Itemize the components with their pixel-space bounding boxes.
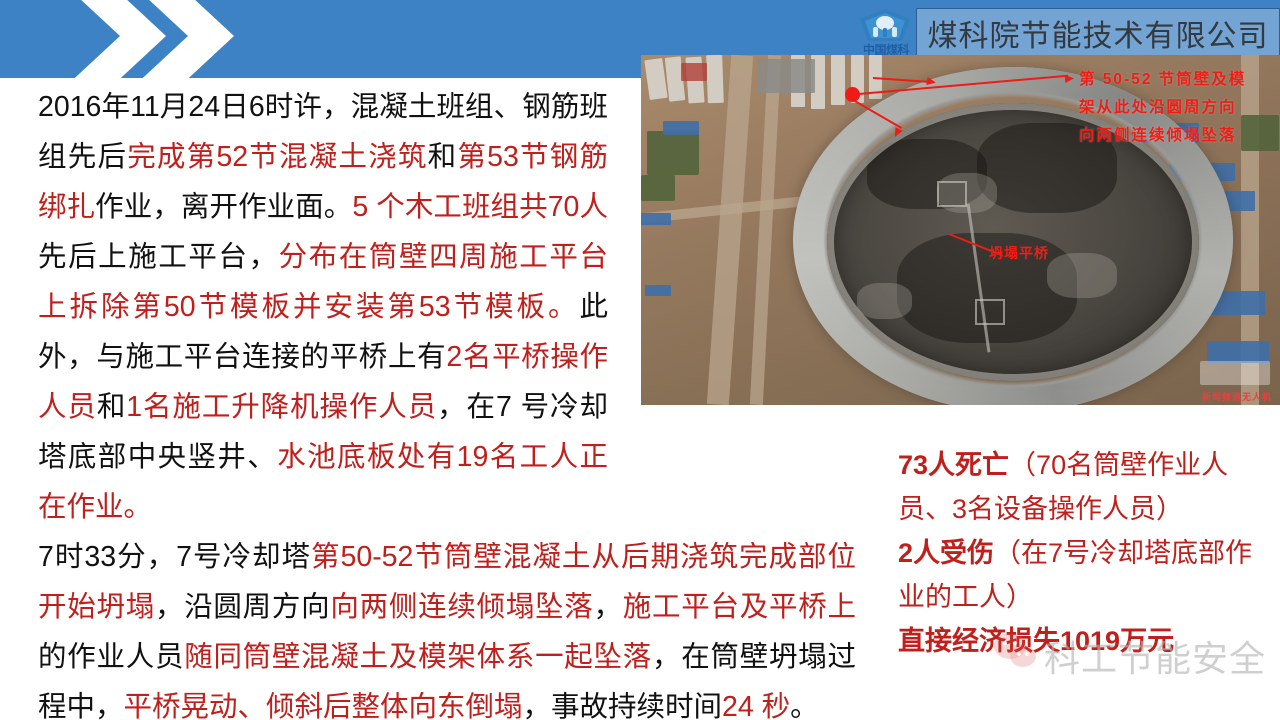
tv-watermark: 新闻频道无人机 [1156, 361, 1276, 403]
casualty-line: 员、3名设备操作人员） [898, 487, 1270, 531]
paragraph-1: 2016年11月24日6时许，混凝土班组、钢筋班组先后完成第52节混凝土浇筑和第… [38, 82, 608, 532]
text-run-2: ，沿圆周方向 [155, 591, 330, 623]
paragraph-2: 7时33分，7号冷却塔第50-52节筒壁混凝土从后期浇筑完成部位开始坍塌，沿圆周… [38, 532, 856, 720]
casualty-run-2-0: 2人受伤 [898, 538, 994, 568]
photo-detail [1207, 341, 1269, 363]
company-name-box: 煤科院节能技术有限公司 [916, 8, 1280, 57]
text-run-5: 施工平台及平桥上 [623, 591, 856, 623]
text-run-11: 24 秒 [722, 691, 790, 720]
text-run-10: ，事故持续时间 [523, 691, 723, 720]
text-run-12: 。 [790, 691, 819, 720]
annotation-arrow-head [926, 77, 936, 86]
casualty-run-0-1: （70名筒壁作业人 [1009, 450, 1228, 480]
annotation-bridge: 坍塌平桥 [989, 243, 1049, 263]
coal-science-shield-icon [858, 8, 912, 44]
casualty-line: 直接经济损失1019万元 [898, 619, 1270, 663]
text-run-7: 随同筒壁混凝土及模架体系一起坠落 [184, 641, 652, 673]
photo-detail [757, 59, 815, 93]
photo-detail [645, 285, 671, 296]
photo-detail [1241, 115, 1279, 151]
text-run-2: 和 [428, 141, 458, 173]
accident-photo: 第 50-52 节筒壁及模 架从此处沿圆周方向 向两侧连续倾塌坠落 坍塌平桥 新… [641, 55, 1280, 405]
casualty-run-4-0: 直接经济损失1019万元 [898, 626, 1174, 656]
text-run-6: 先后上施工平台， [38, 241, 279, 273]
casualty-summary: 73人死亡（70名筒壁作业人员、3名设备操作人员）2人受伤（在7号冷却塔底部作业… [898, 443, 1270, 663]
tv-watermark-text: 新闻频道无人机 [1202, 390, 1272, 403]
photo-detail [641, 175, 675, 201]
text-run-11: 1名施工升降机操作人员 [126, 391, 437, 423]
casualty-line: 2人受伤（在7号冷却塔底部作 [898, 531, 1270, 575]
text-run-1: 完成第52节混凝土浇筑 [127, 141, 427, 173]
tv-logo-icon [1200, 361, 1270, 385]
annotation-line-2: 架从此处沿圆周方向 [1079, 95, 1237, 120]
double-chevron-right-icon [62, 0, 262, 82]
casualty-line: 73人死亡（70名筒壁作业人 [898, 443, 1270, 487]
casualty-run-1-0: 员、3名设备操作人员） [898, 494, 1183, 524]
logo: 中国煤科 [850, 8, 922, 60]
photo-detail [647, 131, 699, 175]
slide: 中国煤科 煤科院节能技术有限公司 2016年11月24日6时许，混凝土班组、钢筋… [0, 0, 1280, 720]
annotation-arrow-head [1065, 74, 1075, 83]
casualty-run-0-0: 73人死亡 [898, 450, 1009, 480]
text-run-9: 平桥晃动、倾斜后整体向东倒塌 [124, 691, 523, 720]
text-run-5: 5 个木工班组共70人 [352, 191, 608, 223]
text-run-4: ， [594, 591, 623, 623]
text-run-4: 作业，离开作业面。 [95, 191, 352, 223]
text-run-0: 7时33分，7号冷却塔 [38, 541, 311, 573]
photo-detail [663, 121, 699, 135]
text-run-10: 和 [97, 391, 126, 423]
text-run-3: 向两侧连续倾塌坠落 [330, 591, 593, 623]
casualty-line: 业的工人） [898, 575, 1270, 619]
casualty-run-2-1: （在7号冷却塔底部作 [994, 538, 1252, 568]
company-badge: 中国煤科 煤科院节能技术有限公司 [840, 0, 1280, 62]
casualty-run-3-0: 业的工人） [898, 582, 1033, 612]
annotation-line-1: 第 50-52 节筒壁及模 [1079, 67, 1246, 92]
photo-detail [706, 55, 724, 103]
photo-detail [681, 63, 707, 81]
company-name: 煤科院节能技术有限公司 [928, 11, 1269, 55]
annotation-line-3: 向两侧连续倾塌坠落 [1079, 123, 1237, 148]
text-run-6: 的作业人员 [38, 641, 184, 673]
photo-detail [831, 55, 845, 105]
photo-detail [641, 213, 671, 225]
